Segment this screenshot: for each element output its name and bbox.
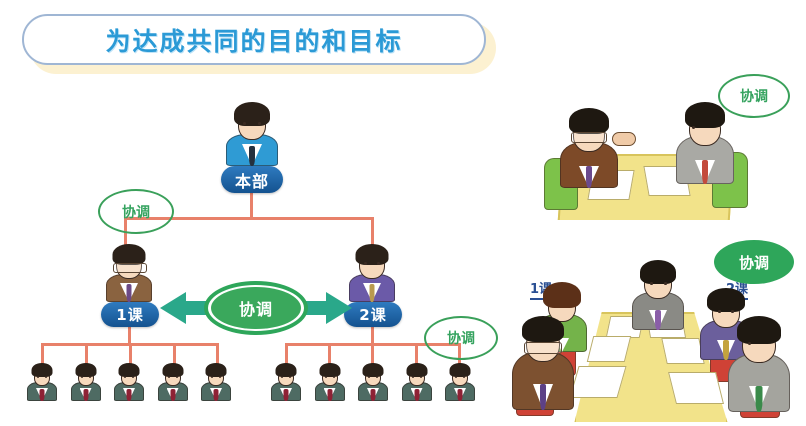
connector-staff-left-2 [85, 343, 88, 365]
connector-root-vertical [250, 193, 253, 219]
staff-person-icon [358, 365, 388, 401]
connector-staff-left-5 [216, 343, 219, 365]
department-1-person-illustration [106, 246, 152, 302]
staff-person-icon [114, 365, 144, 401]
connector-dept2-vertical [371, 217, 374, 247]
connector-staff-right-1 [285, 343, 288, 365]
page-title: 为达成共同的目的和目标 [105, 22, 402, 58]
staff-person-icon [445, 365, 475, 401]
connector-staff-left-4 [173, 343, 176, 365]
staff-person-icon [271, 365, 301, 401]
staff-person-icon [27, 365, 57, 401]
connector-staff-right-2 [328, 343, 331, 365]
staff-person-icon [402, 365, 432, 401]
title-banner: 为达成共同的目的和目标 [22, 14, 486, 65]
department-2-node-label: 2课 [359, 304, 386, 325]
coordination-badge-upper-left[interactable]: 协调 [98, 189, 174, 234]
coordination-badge-lower-right-label: 协调 [447, 328, 475, 348]
coordination-badge-top-photo[interactable]: 协调 [718, 74, 790, 118]
department-2-person-illustration [349, 246, 395, 302]
connector-staff-right-4 [415, 343, 418, 365]
connector-staff-left-1 [41, 343, 44, 365]
connector-dept1-down [128, 327, 131, 344]
staff-person-icon [201, 365, 231, 401]
coordination-badge-upper-left-label: 协调 [122, 202, 150, 222]
coordination-badge-bottom-photo-label: 协调 [739, 252, 769, 273]
coordination-badge-top-photo-label: 协调 [740, 86, 768, 106]
staff-person-icon [315, 365, 345, 401]
staff-person-icon [71, 365, 101, 401]
coordination-badge-bottom-photo[interactable]: 协调 [714, 240, 794, 284]
department-1-node[interactable]: 1课 [101, 302, 159, 327]
coordination-badge-center[interactable]: 协调 [211, 287, 301, 329]
slide-canvas: 为达成共同的目的和目标 本部 1课 [0, 0, 806, 426]
staff-person-icon [158, 365, 188, 401]
headquarters-node-label: 本部 [235, 168, 269, 192]
connector-dept2-down [371, 327, 374, 344]
connector-staff-left-3 [129, 343, 132, 365]
department-2-node[interactable]: 2课 [344, 302, 402, 327]
connector-staff-right-3 [371, 343, 374, 365]
headquarters-node[interactable]: 本部 [221, 166, 283, 193]
coordination-badge-lower-right[interactable]: 协调 [424, 316, 498, 360]
department-1-node-label: 1课 [116, 304, 143, 325]
coordination-badge-center-label: 协调 [239, 296, 273, 320]
headquarters-person-illustration [226, 104, 278, 166]
